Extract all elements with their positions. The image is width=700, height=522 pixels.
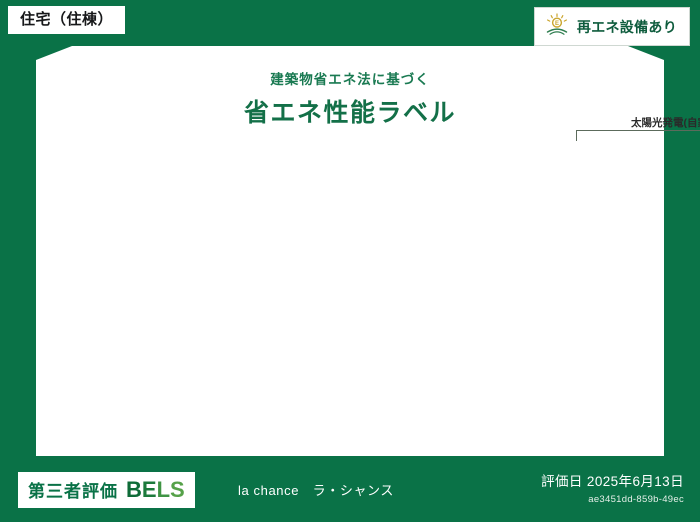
evaluation-meta: 評価日 2025年6月13日 ae3451dd-859b-49ec — [541, 470, 684, 505]
label-title: 建築物省エネ法に基づく 省エネ性能ラベル — [36, 68, 664, 129]
footer: 第三者評価 BELS la chance ラ・シャンス 評価日 2025年6月1… — [0, 460, 700, 522]
bels-jp-label: 第三者評価 — [28, 477, 118, 502]
solar-annotation-label: 太陽光発電(自家消費)分 — [576, 115, 700, 130]
bels-letter: L — [157, 477, 170, 502]
bels-letter: S — [170, 477, 185, 502]
solar-annotation-bracket — [576, 130, 700, 141]
bels-letter: B — [126, 477, 142, 502]
house-type-tag-label: 住宅（住棟） — [20, 11, 113, 28]
property-name: la chance ラ・シャンス — [238, 480, 394, 499]
renewable-equipment-badge: E 再エネ設備あり — [534, 7, 690, 46]
bels-letter: E — [142, 477, 157, 502]
bels-badge: 第三者評価 BELS — [18, 472, 195, 508]
title-subtitle: 建築物省エネ法に基づく — [36, 68, 664, 88]
evaluation-date: 評価日 2025年6月13日 — [541, 470, 684, 490]
title-main: 省エネ性能ラベル — [36, 93, 664, 129]
sun-solar-icon: E — [544, 13, 570, 40]
bels-logo: BELS — [126, 479, 185, 501]
renewable-equipment-label: 再エネ設備あり — [577, 17, 677, 37]
svg-text:E: E — [555, 21, 559, 27]
label-root: 住宅（住棟） E 再エネ設備あり 建築物省エネ法に基づく — [0, 0, 700, 522]
label-sheet: 建築物省エネ法に基づく 省エネ性能ラベル — [36, 46, 664, 456]
house-type-tag: 住宅（住棟） — [8, 6, 125, 34]
document-id: ae3451dd-859b-49ec — [541, 494, 684, 505]
